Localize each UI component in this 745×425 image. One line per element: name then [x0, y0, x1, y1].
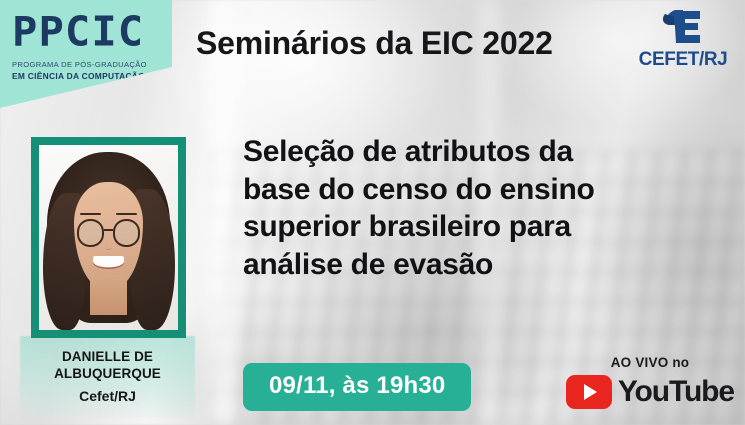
- broadcast-block: AO VIVO no YouTube: [566, 355, 734, 409]
- cefet-logo: CEFET/RJ: [635, 8, 731, 71]
- ppcic-wordmark: PPCIC: [12, 12, 176, 53]
- live-label: AO VIVO no: [566, 355, 734, 370]
- cefet-e-monogram-icon: [660, 8, 706, 48]
- talk-title-line3: superior brasileiro para: [243, 210, 571, 243]
- talk-title-line2: base do censo do ensino: [243, 173, 595, 206]
- youtube-play-icon[interactable]: [566, 375, 612, 409]
- speaker-name: DANIELLE DE ALBUQUERQUE: [20, 348, 195, 382]
- page-title: Seminários da EIC 2022: [196, 25, 553, 62]
- ppcic-subtitle-line1: PROGRAMA DE PÓS-GRADUAÇÃO: [12, 60, 164, 69]
- youtube-wordmark: YouTube: [618, 377, 734, 407]
- talk-title-line1: Seleção de atributos da: [243, 135, 573, 168]
- speaker-name-line2: ALBUQUERQUE: [54, 366, 161, 381]
- talk-title: Seleção de atributos da base do censo do…: [243, 133, 713, 284]
- schedule-badge: 09/11, às 19h30: [243, 363, 471, 411]
- youtube-logo[interactable]: YouTube: [566, 375, 734, 409]
- seminar-poster: PPCIC PROGRAMA DE PÓS-GRADUAÇÃO EM CIÊNC…: [0, 0, 745, 425]
- talk-title-line4: análise de evasão: [243, 248, 493, 281]
- speaker-name-line1: DANIELLE DE: [62, 349, 153, 364]
- cefet-label: CEFET/RJ: [635, 49, 731, 71]
- speaker-avatar: [39, 145, 178, 330]
- speaker-affiliation: Cefet/RJ: [20, 388, 195, 404]
- speaker-photo-frame: [31, 137, 186, 338]
